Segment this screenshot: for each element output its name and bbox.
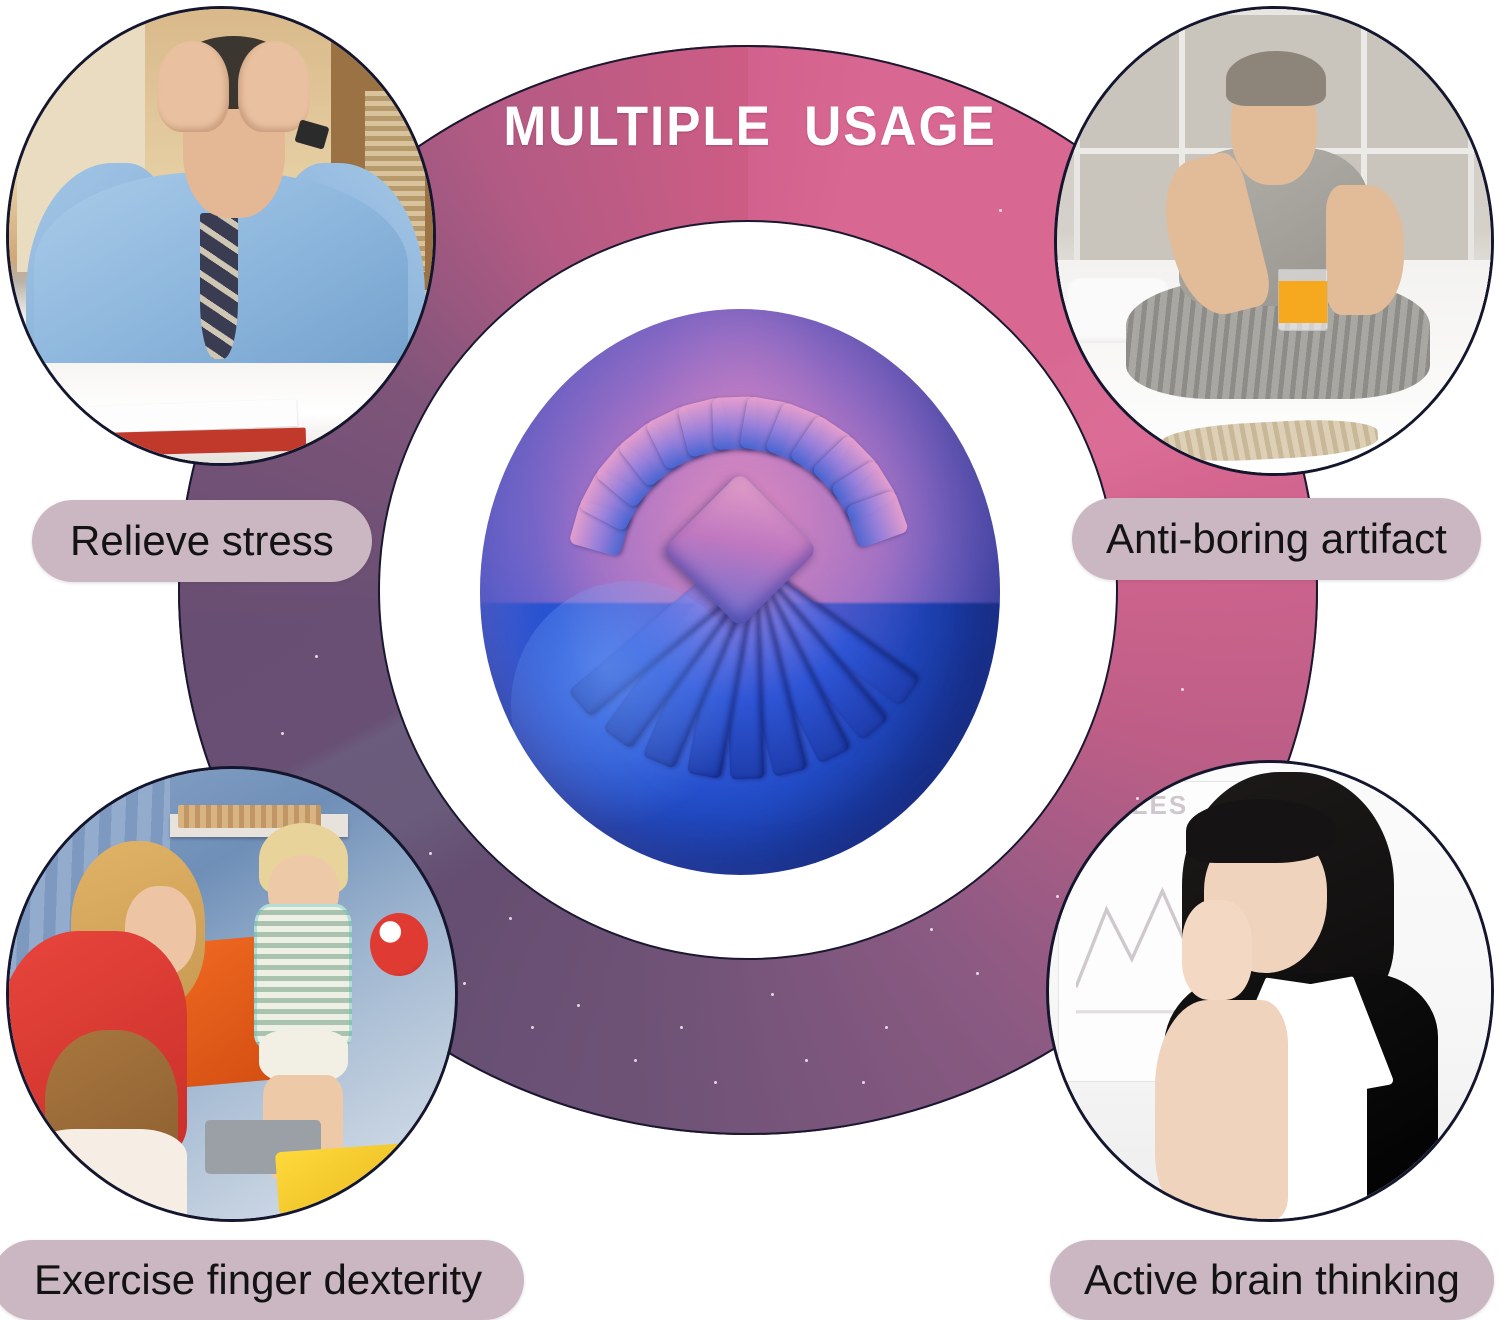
caption-label: Exercise finger dexterity xyxy=(34,1256,482,1304)
caption-exercise-finger-dexterity: Exercise finger dexterity xyxy=(0,1240,524,1320)
bored-man-scene xyxy=(1057,9,1491,473)
caption-active-brain-thinking: Active brain thinking xyxy=(1050,1240,1494,1320)
product-image xyxy=(466,292,1014,892)
caption-label: Relieve stress xyxy=(70,517,334,565)
gear-ball-icon xyxy=(480,309,1000,875)
mother-and-toddlers-scene xyxy=(9,769,455,1219)
caption-anti-boring-artifact: Anti-boring artifact xyxy=(1072,498,1481,580)
whiteboard-label: ALES xyxy=(1111,790,1188,821)
benefit-photo-active-brain: ALES xyxy=(1046,760,1494,1222)
caption-relieve-stress: Relieve stress xyxy=(32,500,372,582)
caption-label: Active brain thinking xyxy=(1084,1256,1460,1304)
benefit-photo-relieve-stress xyxy=(6,6,436,466)
stressed-man-scene xyxy=(9,9,433,463)
multiple-usage-poster: MULTIPLE USAGE xyxy=(0,0,1500,1320)
benefit-photo-finger-dexterity xyxy=(6,766,458,1222)
ball-sheen xyxy=(511,581,750,830)
benefit-photo-anti-boring xyxy=(1054,6,1494,476)
caption-label: Anti-boring artifact xyxy=(1106,515,1447,563)
thinking-woman-scene: ALES xyxy=(1049,763,1491,1219)
